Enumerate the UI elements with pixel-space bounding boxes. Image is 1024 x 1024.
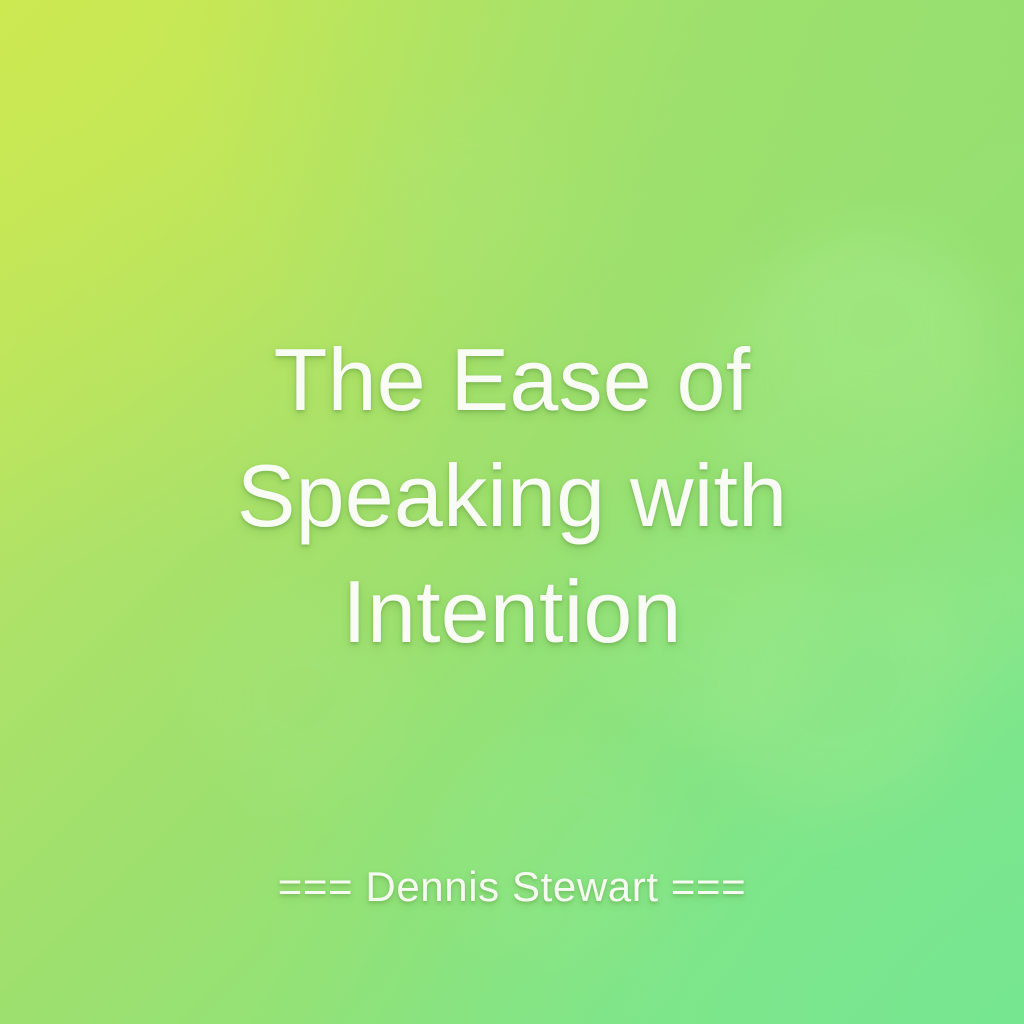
book-cover: The Ease of Speaking with Intention === …	[0, 0, 1024, 1024]
cover-text-layer: The Ease of Speaking with Intention === …	[0, 0, 1024, 1024]
cover-title: The Ease of Speaking with Intention	[0, 322, 1024, 670]
cover-byline: === Dennis Stewart ===	[0, 862, 1024, 912]
